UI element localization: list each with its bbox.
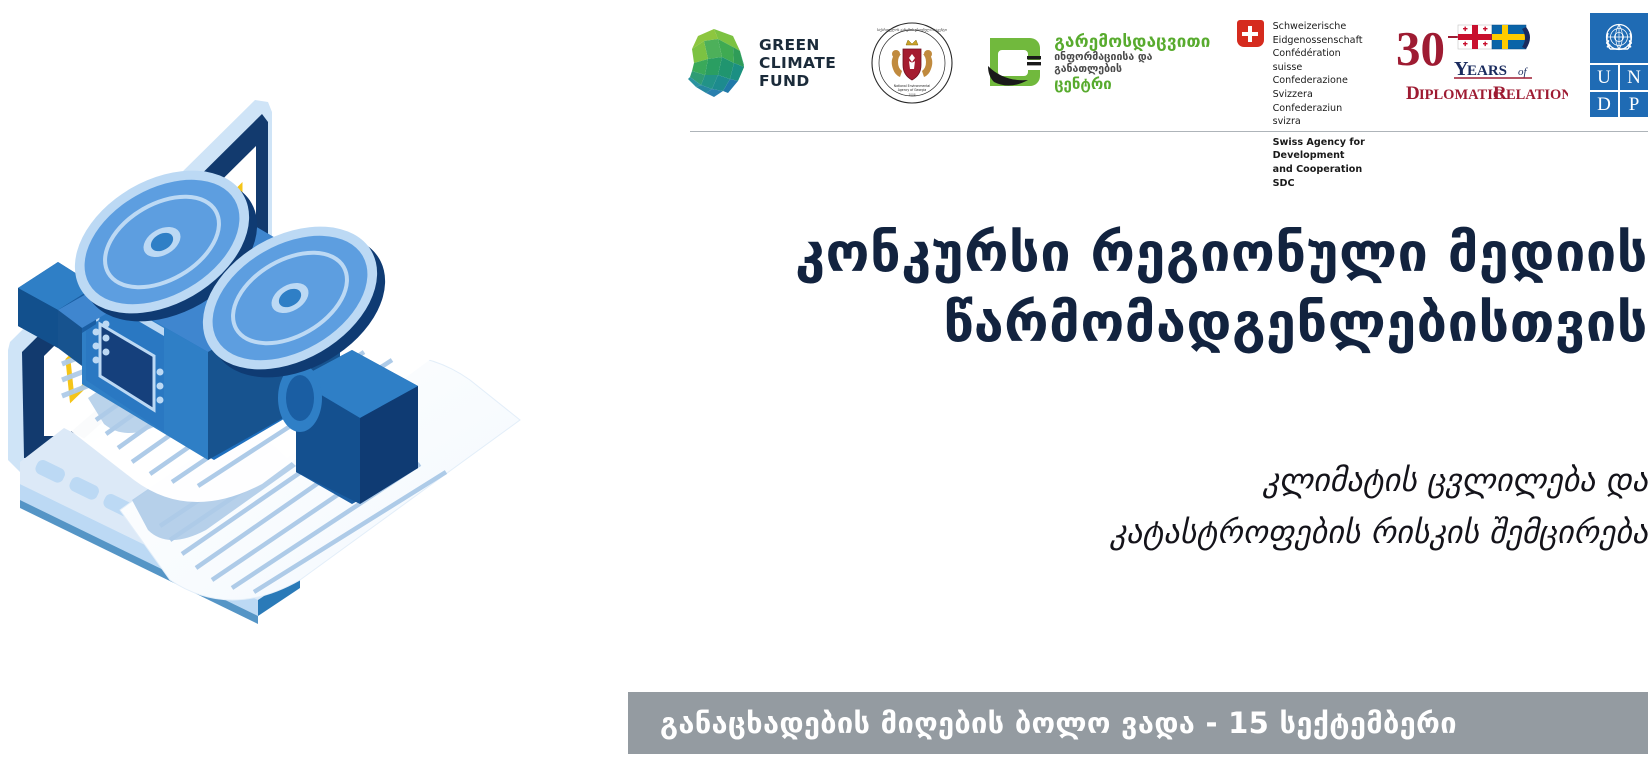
svg-text:EARS: EARS [1467,63,1507,79]
un-emblem-icon [1590,13,1648,63]
svg-text:Agency of Georgia: Agency of Georgia [898,88,927,92]
page-subtitle-line-1: კლიმატის ცვლილება და [660,455,1648,507]
logo-environmental-information-education-center: გარემოსდაცვითი ინფორმაციისა და განათლები… [984,13,1210,113]
page-subtitle-line-2: კატასტროფების რისკის შემცირება [660,507,1648,559]
partner-logo-bar: GREEN CLIMATE FUND საქართველოს გარემოს ე… [672,8,1648,118]
page-title-line-2: წარმომადგენლებისთვის [660,288,1648,358]
svg-text:IPLOMATIC: IPLOMATIC [1419,87,1503,103]
green-climate-fund-wordmark: GREEN CLIMATE FUND [759,36,836,91]
header-divider [690,131,1648,132]
svg-text:ELATIONS: ELATIONS [1506,87,1568,103]
georgia-national-agency-seal-icon: საქართველოს გარემოს ეროვნული სააგენტო [870,21,954,105]
poster-root: GREEN CLIMATE FUND საქართველოს გარემოს ე… [0,0,1648,768]
svg-text:საქართველოს გარემოს ეროვნული ს: საქართველოს გარემოს ეროვნული სააგენტო [877,28,948,32]
page-title: კონკურსი რეგიონული მედიის წარმომადგენლებ… [660,218,1648,358]
undp-letter-p: P [1620,92,1648,117]
undp-letter-n: N [1620,65,1648,90]
logo-national-environmental-agency: საქართველოს გარემოს ეროვნული სააგენტო [836,13,954,113]
svg-text:D: D [1406,83,1420,104]
svg-text:R: R [1493,83,1507,104]
page-title-line-1: კონკურსი რეგიონული მედიის [660,218,1648,288]
deadline-banner: განაცხადების მიღების ბოლო ვადა - 15 სექტ… [628,692,1648,754]
swiss-flag-icon [1237,20,1264,47]
undp-letter-grid: U N D P [1590,65,1648,117]
svg-text:2008: 2008 [909,93,916,97]
deadline-text: განაცხადების მიღების ბოლო ვადა - 15 სექტ… [628,706,1457,740]
hero-illustration [0,80,700,640]
svg-text:30: 30 [1396,21,1445,76]
undp-letter-d: D [1590,92,1618,117]
eiec-leaf-mark-icon [984,32,1046,94]
logo-swiss-agency-sdc: Schweizerische Eidgenossenschaft Confédé… [1237,6,1370,120]
logo-undp: U N D P [1590,13,1648,113]
swiss-agency-wordmark: Schweizerische Eidgenossenschaft Confédé… [1273,20,1370,190]
undp-letter-u: U [1590,65,1618,90]
page-subtitle: კლიმატის ცვლილება და კატასტროფების რისკი… [660,455,1648,559]
eiec-wordmark: გარემოსდაცვითი ინფორმაციისა და განათლები… [1054,33,1210,92]
svg-text:of: of [1518,66,1529,78]
logo-thirty-years-diplomatic-relations: 30 [1392,17,1568,109]
